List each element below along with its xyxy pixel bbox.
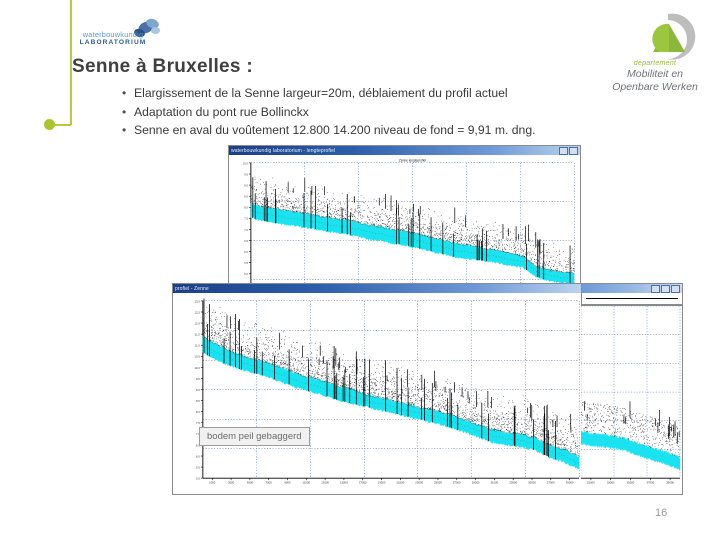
waterbouwkundig-laboratorium-logo: waterbouwkundig LABORATORIUM bbox=[72, 18, 168, 52]
svg-text:13.0: 13.0 bbox=[194, 299, 200, 303]
svg-text:8.5: 8.5 bbox=[196, 399, 200, 403]
svg-text:7.5: 7.5 bbox=[196, 421, 200, 425]
svg-text:9.5: 9.5 bbox=[196, 377, 200, 381]
svg-text:33000: 33000 bbox=[509, 481, 517, 485]
svg-text:9.0: 9.0 bbox=[196, 388, 200, 392]
list-item: • Elargissement de la Senne largeur=20m,… bbox=[122, 86, 642, 101]
svg-text:35000: 35000 bbox=[627, 481, 635, 485]
close-icon[interactable] bbox=[671, 285, 680, 293]
bullet-text: Elargissement de la Senne largeur=20m, d… bbox=[134, 86, 508, 101]
decor-horizontal-line bbox=[55, 124, 71, 126]
minimize-icon[interactable] bbox=[651, 285, 660, 293]
svg-text:12.0: 12.0 bbox=[194, 321, 200, 325]
svg-text:6.5: 6.5 bbox=[244, 239, 248, 243]
svg-text:5.5: 5.5 bbox=[196, 465, 200, 469]
lower-window-controls-bar[interactable] bbox=[582, 284, 682, 293]
lower-window-titlebar[interactable]: profiel - Zenne bbox=[173, 284, 581, 293]
slide-root: waterbouwkundig LABORATORIUM departement… bbox=[0, 0, 720, 540]
lower-window-title: profiel - Zenne bbox=[175, 286, 579, 292]
window-controls[interactable] bbox=[559, 147, 578, 155]
svg-text:39000: 39000 bbox=[566, 481, 574, 485]
svg-text:25000: 25000 bbox=[434, 481, 442, 485]
svg-text:8.5: 8.5 bbox=[244, 195, 248, 199]
svg-text:15000: 15000 bbox=[340, 481, 348, 485]
callout-bodem-peil-gebaggerd: bodem peil gebaggerd bbox=[199, 427, 310, 446]
svg-text:39000: 39000 bbox=[666, 481, 674, 485]
svg-text:37000: 37000 bbox=[547, 481, 555, 485]
svg-text:11000: 11000 bbox=[303, 481, 311, 485]
lower-plot-window-right-panel: 3100033000350003700039000 bbox=[581, 305, 683, 495]
svg-text:27000: 27000 bbox=[453, 481, 461, 485]
svg-text:7000: 7000 bbox=[266, 481, 273, 485]
svg-text:10.0: 10.0 bbox=[194, 366, 200, 370]
minimize-icon[interactable] bbox=[559, 147, 568, 155]
divider bbox=[586, 298, 678, 299]
bullet-list: • Elargissement de la Senne largeur=20m,… bbox=[122, 86, 642, 142]
page-title: Senne à Bruxelles : bbox=[72, 56, 253, 78]
svg-text:5000: 5000 bbox=[247, 481, 254, 485]
mobiliteit-openbare-werken-logo: departement Mobiliteit en Openbare Werke… bbox=[600, 12, 710, 94]
svg-text:9.5: 9.5 bbox=[244, 172, 248, 176]
svg-text:23000: 23000 bbox=[415, 481, 423, 485]
bullet-text: Adaptation du pont rue Bollinckx bbox=[134, 105, 309, 120]
svg-text:13000: 13000 bbox=[321, 481, 329, 485]
svg-text:9000: 9000 bbox=[284, 481, 291, 485]
svg-text:8.0: 8.0 bbox=[244, 206, 248, 210]
svg-text:5.0: 5.0 bbox=[196, 477, 200, 481]
svg-text:11.5: 11.5 bbox=[195, 333, 201, 337]
bullet-text: Senne en aval du voûtement 12.800 14.200… bbox=[134, 123, 535, 138]
svg-text:12.5: 12.5 bbox=[194, 310, 200, 314]
list-item: • Adaptation du pont rue Bollinckx bbox=[122, 105, 642, 120]
svg-text:33000: 33000 bbox=[607, 481, 615, 485]
svg-text:31000: 31000 bbox=[587, 481, 595, 485]
svg-text:21000: 21000 bbox=[396, 481, 404, 485]
svg-text:37000: 37000 bbox=[646, 481, 654, 485]
bullet-marker-icon: • bbox=[122, 105, 134, 120]
svg-text:Zenne lengteprofiel: Zenne lengteprofiel bbox=[399, 158, 426, 162]
maximize-icon[interactable] bbox=[661, 285, 670, 293]
decor-dot bbox=[44, 119, 55, 130]
svg-text:6.0: 6.0 bbox=[244, 250, 248, 254]
logo-departement-label: departement bbox=[600, 60, 710, 67]
logo-line-1: Mobiliteit en bbox=[600, 68, 710, 80]
upper-window-title: waterbouwkundig laboratorium - lengtepro… bbox=[231, 148, 559, 154]
svg-text:7.5: 7.5 bbox=[244, 217, 248, 221]
callout-text: bodem peil gebaggerd bbox=[207, 431, 302, 442]
upper-window-titlebar[interactable]: waterbouwkundig laboratorium - lengtepro… bbox=[229, 146, 580, 155]
svg-text:8.0: 8.0 bbox=[196, 410, 200, 414]
lower-plot-area: 13.012.512.011.511.010.510.09.59.08.58.0… bbox=[173, 293, 581, 494]
svg-text:10.5: 10.5 bbox=[194, 355, 200, 359]
svg-text:6.0: 6.0 bbox=[196, 454, 200, 458]
lower-window-titlebar-extension[interactable] bbox=[581, 283, 683, 305]
svg-text:19000: 19000 bbox=[378, 481, 386, 485]
svg-text:7.0: 7.0 bbox=[244, 228, 248, 232]
lower-profile-chart-right: 3100033000350003700039000 bbox=[581, 306, 682, 494]
svg-text:5.5: 5.5 bbox=[244, 261, 248, 265]
swirl-icon bbox=[638, 12, 700, 60]
svg-text:29000: 29000 bbox=[472, 481, 480, 485]
svg-text:31000: 31000 bbox=[491, 481, 499, 485]
svg-text:11.0: 11.0 bbox=[195, 344, 201, 348]
svg-text:10.0: 10.0 bbox=[243, 161, 249, 165]
list-item: • Senne en aval du voûtement 12.800 14.2… bbox=[122, 123, 642, 138]
svg-text:5.0: 5.0 bbox=[244, 272, 248, 276]
lower-profile-chart: 13.012.512.011.511.010.510.09.59.08.58.0… bbox=[173, 293, 581, 494]
logo-line-2: LABORATORIUM bbox=[72, 39, 154, 46]
bullet-marker-icon: • bbox=[122, 123, 134, 138]
page-number: 16 bbox=[655, 507, 667, 519]
maximize-icon[interactable] bbox=[569, 147, 578, 155]
svg-text:3000: 3000 bbox=[228, 481, 235, 485]
lower-plot-window[interactable]: profiel - Zenne 13.012.512.011.511.010.5… bbox=[172, 283, 582, 495]
svg-text:35000: 35000 bbox=[528, 481, 536, 485]
svg-text:17000: 17000 bbox=[359, 481, 367, 485]
svg-text:1000: 1000 bbox=[209, 481, 216, 485]
bullet-marker-icon: • bbox=[122, 86, 134, 101]
logo-line-1: waterbouwkundig bbox=[72, 30, 154, 39]
svg-text:9.0: 9.0 bbox=[244, 183, 248, 187]
